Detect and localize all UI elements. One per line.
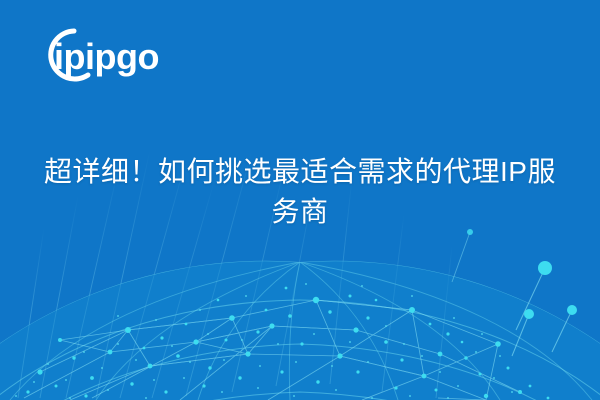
page-title: 超详细！如何挑选最适合需求的代理IP服务商 bbox=[40, 152, 560, 232]
logo-wordmark-text: ipipgo bbox=[54, 36, 159, 77]
brand-logo[interactable]: ipipgo ipipgo bbox=[26, 22, 226, 88]
article-banner: ipipgo ipipgo 超详细！如何挑选最适合需求的代理IP服务商 bbox=[0, 0, 600, 400]
logo-artwork: ipipgo bbox=[26, 22, 226, 88]
